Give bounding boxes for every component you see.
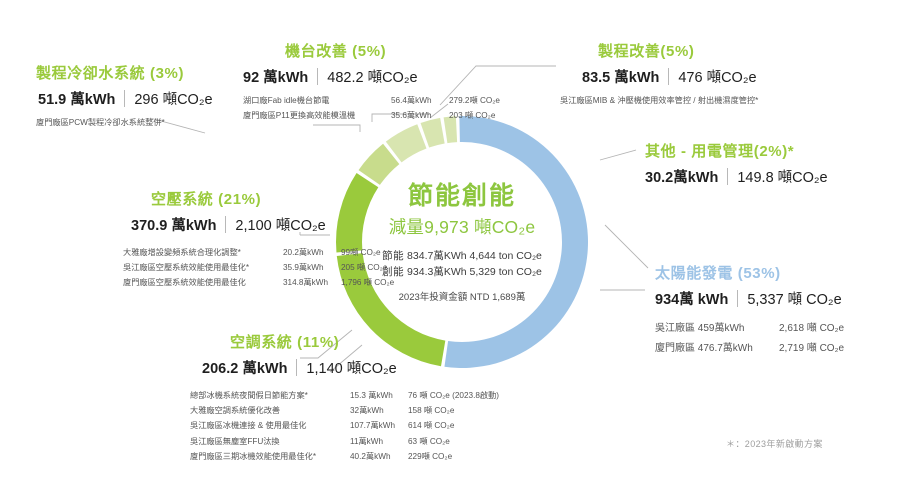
callout-co2: 149.8 噸CO₂e — [737, 166, 827, 187]
detail-name: 廈門廠區空壓系統效能使用最佳化 — [123, 275, 283, 290]
center-investment-note: 2023年投資金額 NTD 1,689萬 — [372, 289, 552, 303]
callout-headline: 370.9 萬kWh 2,100 噸CO₂e — [131, 213, 394, 235]
callout-solar-generation: 太陽能發電 (53%) 934萬 kWh 5,337 噸 CO₂e 吳江廠區 4… — [655, 262, 844, 359]
callout-title: 太陽能發電 (53%) — [655, 262, 844, 283]
detail-name: 大雅廠空調系統優化改善 — [190, 403, 350, 418]
detail-name: 廈門廠區 476.7萬kWh — [655, 339, 773, 359]
callout-title: 空調系統 (11%) — [230, 331, 499, 352]
callout-hvac-system: 空調系統 (11%) 206.2 萬kWh 1,140 噸CO₂e 總部冰機系統… — [190, 331, 499, 464]
callout-headline: 30.2萬kWh 149.8 噸CO₂e — [645, 165, 828, 187]
detail-kwh: 107.7萬kWh — [350, 418, 408, 433]
detail-name: 湖口廠Fab idle機台節電 — [243, 93, 391, 108]
callout-kwh: 30.2萬kWh — [645, 166, 718, 187]
detail-name: 大雅廠增設變頻系統合理化調整* — [123, 245, 283, 260]
detail-co2: 203 噸 CO₂e — [449, 108, 495, 123]
detail-name: 吳江廠區空壓系統效能使用最佳化* — [123, 260, 283, 275]
callout-co2: 296 噸CO₂e — [134, 88, 212, 109]
center-row1-kwh: 834.7萬KWh — [407, 250, 467, 262]
detail-co2: 229噸 CO₂e — [408, 449, 452, 464]
callout-detail-list: 吳江廠區 459萬kWh 2,618 噸 CO₂e 廈門廠區 476.7萬kWh… — [655, 319, 844, 359]
center-summary: 節能創能 減量9,973 噸CO₂e 節能 834.7萬KWh 4,644 to… — [372, 182, 552, 303]
list-item: 廈門廠區P11更換高效能模溫機 35.6萬kWh 203 噸 CO₂e — [243, 108, 500, 123]
infographic-canvas: 節能創能 減量9,973 噸CO₂e 節能 834.7萬KWh 4,644 to… — [0, 0, 900, 501]
callout-machine-improvement: 機台改善 (5%) 92 萬kWh 482.2 噸CO₂e 湖口廠Fab idl… — [243, 40, 500, 123]
center-row-generation: 創能 934.3萬KWh 5,329 ton CO₂e — [372, 264, 552, 280]
detail-kwh: 40.2萬kWh — [350, 449, 408, 464]
detail-co2: 158 噸 CO₂e — [408, 403, 454, 418]
detail-kwh: 56.4萬kWh — [391, 93, 449, 108]
callout-kwh: 51.9 萬kWh — [38, 88, 115, 109]
list-item: 吳江廠區無塵室FFU汰換 11萬kWh 63 噸 CO₂e — [190, 434, 499, 449]
callout-co2: 482.2 噸CO₂e — [327, 66, 417, 87]
callout-headline: 83.5 萬kWh 476 噸CO₂e — [582, 65, 758, 87]
detail-co2: 2,618 噸 CO₂e — [779, 319, 844, 339]
detail-co2: 614 噸 CO₂e — [408, 418, 454, 433]
callout-headline: 934萬 kWh 5,337 噸 CO₂e — [655, 287, 844, 309]
list-item: 廈門廠區 476.7萬kWh 2,719 噸 CO₂e — [655, 339, 844, 359]
callout-co2: 1,140 噸CO₂e — [306, 357, 396, 378]
center-rows: 節能 834.7萬KWh 4,644 ton CO₂e 創能 934.3萬KWh… — [372, 248, 552, 281]
callout-title: 製程改善(5%) — [598, 40, 758, 61]
callout-kwh: 370.9 萬kWh — [131, 214, 216, 235]
detail-kwh: 20.2萬kWh — [283, 245, 341, 260]
center-subtitle: 減量9,973 噸CO₂e — [372, 214, 552, 239]
detail-kwh: 35.9萬kWh — [283, 260, 341, 275]
detail-kwh: 11萬kWh — [350, 434, 408, 449]
divider — [737, 290, 738, 307]
list-item: 大雅廠增設變頻系統合理化調整* 20.2萬kWh 99噸 CO₂e — [123, 245, 394, 260]
list-item: 大雅廠空調系統優化改善 32萬kWh 158 噸 CO₂e — [190, 403, 499, 418]
detail-name: 吳江廠區冰機連接 & 使用最佳化 — [190, 418, 350, 433]
detail-kwh: 35.6萬kWh — [391, 108, 449, 123]
detail-name: 吳江廠區 459萬kWh — [655, 319, 773, 339]
divider — [124, 90, 125, 107]
callout-kwh: 934萬 kWh — [655, 288, 728, 309]
callout-title: 空壓系統 (21%) — [151, 188, 394, 209]
detail-kwh: 314.8萬kWh — [283, 275, 341, 290]
detail-kwh: 15.3 萬kWh — [350, 388, 408, 403]
divider — [668, 68, 669, 85]
callout-process-improvement: 製程改善(5%) 83.5 萬kWh 476 噸CO₂e 吳江廠區MIB & 沖… — [560, 40, 758, 106]
callout-detail-list: 大雅廠增設變頻系統合理化調整* 20.2萬kWh 99噸 CO₂e 吳江廠區空壓… — [123, 245, 394, 291]
list-item: 吳江廠區冰機連接 & 使用最佳化 107.7萬kWh 614 噸 CO₂e — [190, 418, 499, 433]
detail-co2: 279.2噸 CO₂e — [449, 93, 500, 108]
callout-detail-list: 湖口廠Fab idle機台節電 56.4萬kWh 279.2噸 CO₂e 廈門廠… — [243, 93, 500, 123]
center-title: 節能創能 — [372, 182, 552, 211]
callout-headline: 92 萬kWh 482.2 噸CO₂e — [243, 65, 500, 87]
callout-kwh: 206.2 萬kWh — [202, 357, 287, 378]
callout-note: 吳江廠區MIB & 沖壓機使用效率管控 / 射出機濕度管控* — [560, 94, 758, 106]
callout-process-cooling-water: 製程冷卻水系統 (3%) 51.9 萬kWh 296 噸CO₂e 廈門廠區PCW… — [36, 62, 213, 128]
list-item: 總部冰機系統夜間假日節能方案* 15.3 萬kWh 76 噸 CO₂e (202… — [190, 388, 499, 403]
callout-title: 機台改善 (5%) — [285, 40, 500, 61]
footnote-new-program: ＊：2023年新啟動方案 — [726, 437, 823, 450]
divider — [225, 216, 226, 233]
callout-title: 製程冷卻水系統 (3%) — [36, 62, 213, 83]
divider — [727, 168, 728, 185]
callout-headline: 51.9 萬kWh 296 噸CO₂e — [38, 87, 213, 109]
detail-name: 吳江廠區無塵室FFU汰換 — [190, 434, 350, 449]
center-row2-co2: 5,329 ton CO₂e — [470, 266, 542, 278]
callout-co2: 476 噸CO₂e — [678, 66, 756, 87]
detail-co2: 205 噸 CO₂e — [341, 260, 387, 275]
detail-co2: 63 噸 CO₂e — [408, 434, 450, 449]
detail-co2: 76 噸 CO₂e (2023.8啟動) — [408, 388, 499, 403]
divider — [296, 359, 297, 376]
detail-kwh: 32萬kWh — [350, 403, 408, 418]
center-row2-kwh: 934.3萬KWh — [407, 266, 467, 278]
detail-co2: 2,719 噸 CO₂e — [779, 339, 844, 359]
list-item: 吳江廠區空壓系統效能使用最佳化* 35.9萬kWh 205 噸 CO₂e — [123, 260, 394, 275]
list-item: 廈門廠區三期冰機效能使用最佳化* 40.2萬kWh 229噸 CO₂e — [190, 449, 499, 464]
detail-name: 廈門廠區P11更換高效能模溫機 — [243, 108, 391, 123]
list-item: 湖口廠Fab idle機台節電 56.4萬kWh 279.2噸 CO₂e — [243, 93, 500, 108]
callout-headline: 206.2 萬kWh 1,140 噸CO₂e — [202, 356, 499, 378]
detail-name: 總部冰機系統夜間假日節能方案* — [190, 388, 350, 403]
detail-name: 廈門廠區三期冰機效能使用最佳化* — [190, 449, 350, 464]
list-item: 廈門廠區空壓系統效能使用最佳化 314.8萬kWh 1,796 噸 CO₂e — [123, 275, 394, 290]
callout-kwh: 83.5 萬kWh — [582, 66, 659, 87]
center-row1-co2: 4,644 ton CO₂e — [470, 250, 542, 262]
callout-title: 其他 - 用電管理(2%)* — [645, 140, 828, 161]
detail-co2: 1,796 噸 CO₂e — [341, 275, 394, 290]
callout-note: 廈門廠區PCW製程冷卻水系統整併* — [36, 116, 213, 128]
callout-detail-list: 總部冰機系統夜間假日節能方案* 15.3 萬kWh 76 噸 CO₂e (202… — [190, 388, 499, 464]
center-row-saving: 節能 834.7萬KWh 4,644 ton CO₂e — [372, 248, 552, 264]
list-item: 吳江廠區 459萬kWh 2,618 噸 CO₂e — [655, 319, 844, 339]
callout-co2: 5,337 噸 CO₂e — [747, 288, 841, 309]
callout-air-compressor-system: 空壓系統 (21%) 370.9 萬kWh 2,100 噸CO₂e 大雅廠增設變… — [123, 188, 394, 291]
divider — [317, 68, 318, 85]
detail-co2: 99噸 CO₂e — [341, 245, 381, 260]
callout-other-power-management: 其他 - 用電管理(2%)* 30.2萬kWh 149.8 噸CO₂e — [645, 140, 828, 187]
callout-co2: 2,100 噸CO₂e — [235, 214, 325, 235]
callout-kwh: 92 萬kWh — [243, 66, 308, 87]
